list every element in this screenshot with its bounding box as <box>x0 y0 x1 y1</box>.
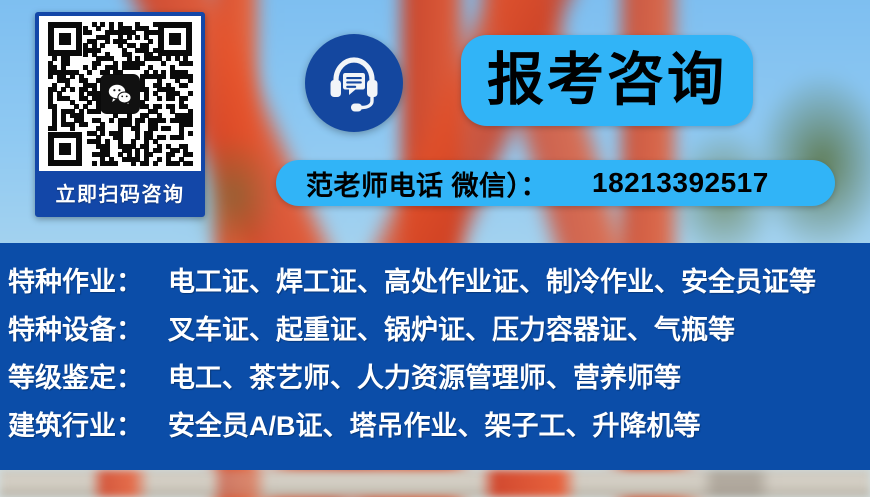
headset-chat-icon <box>305 34 403 132</box>
category-items: 安全员A/B证、塔吊作业、架子工、升降机等 <box>168 404 701 443</box>
qr-finder-top-right <box>158 22 192 56</box>
qr-code-card[interactable]: 立即扫码咨询 <box>35 12 205 217</box>
category-items: 电工证、焊工证、高处作业证、制冷作业、安全员证等 <box>168 260 816 299</box>
title-badge: 报考咨询 <box>461 35 753 126</box>
contact-phone-number[interactable]: 18213392517 <box>592 167 769 199</box>
category-label: 建筑行业： <box>8 404 160 443</box>
qr-card-label: 立即扫码咨询 <box>39 171 201 213</box>
promo-poster: 立即扫码咨询 报考咨询 范老师电话 微信）： 18213392517 <box>0 0 870 497</box>
category-label: 特种设备： <box>8 308 160 347</box>
certificate-categories-panel: 特种作业： 电工证、焊工证、高处作业证、制冷作业、安全员证等 特种设备： 叉车证… <box>0 243 870 470</box>
qr-code-image[interactable] <box>48 22 192 166</box>
category-label: 等级鉴定： <box>8 356 160 395</box>
title-badge-text: 报考咨询 <box>487 52 727 109</box>
contact-phone-badge[interactable]: 范老师电话 微信）： 18213392517 <box>276 160 835 206</box>
qr-finder-top-left <box>48 22 82 56</box>
category-items: 电工、茶艺师、人力资源管理师、营养师等 <box>168 356 681 395</box>
background-photo-ground-strip <box>0 470 870 497</box>
contact-label: 范老师电话 微信）： <box>306 164 548 203</box>
category-row: 建筑行业： 安全员A/B证、塔吊作业、架子工、升降机等 <box>0 404 870 452</box>
category-label: 特种作业： <box>8 260 160 299</box>
wechat-icon <box>100 74 140 114</box>
category-row: 特种设备： 叉车证、起重证、锅炉证、压力容器证、气瓶等 <box>0 308 870 356</box>
category-items: 叉车证、起重证、锅炉证、压力容器证、气瓶等 <box>168 308 735 347</box>
qr-finder-bottom-left <box>48 132 82 166</box>
category-row: 等级鉴定： 电工、茶艺师、人力资源管理师、营养师等 <box>0 356 870 404</box>
qr-code-white-area <box>39 16 201 171</box>
category-row: 特种作业： 电工证、焊工证、高处作业证、制冷作业、安全员证等 <box>0 260 870 308</box>
